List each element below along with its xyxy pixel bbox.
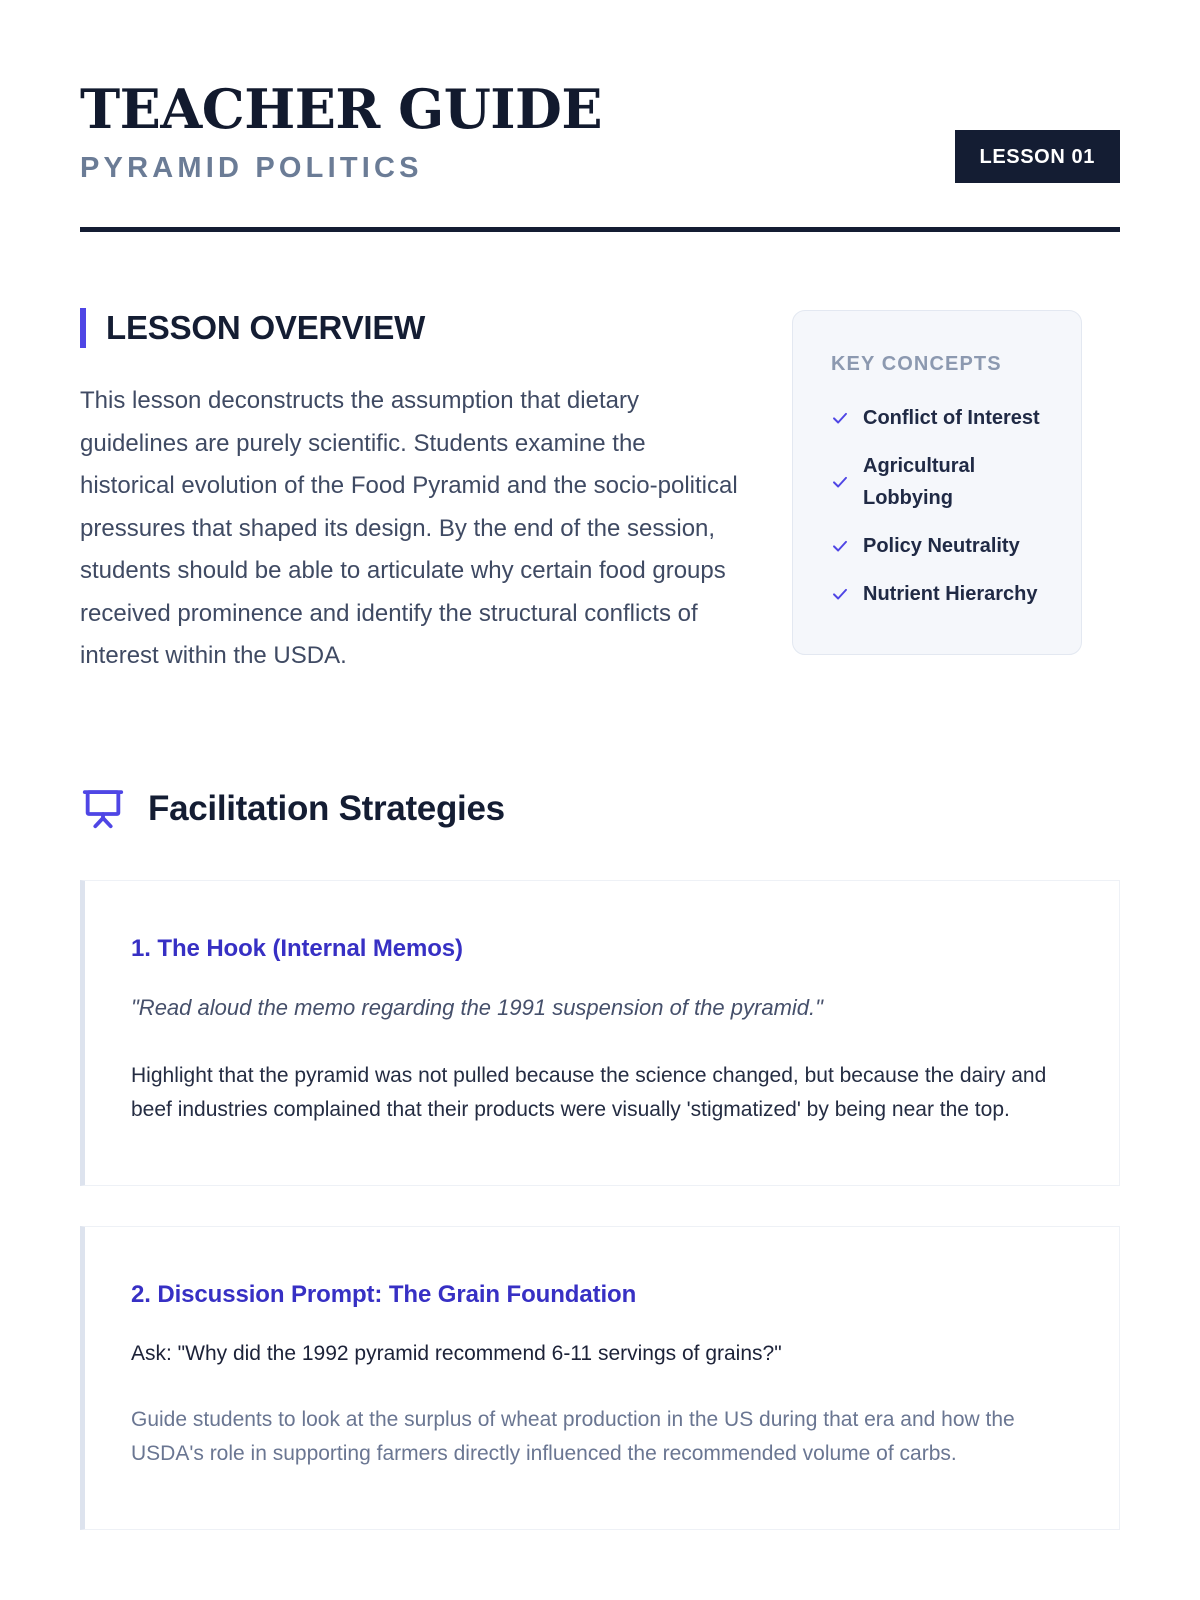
presentation-board-icon — [80, 786, 126, 832]
check-icon — [831, 473, 849, 491]
strategy-card: 2. Discussion Prompt: The Grain Foundati… — [80, 1226, 1120, 1530]
strategy-title: 1. The Hook (Internal Memos) — [131, 935, 1073, 963]
accent-bar-icon — [80, 308, 86, 348]
key-concept-label: Conflict of Interest — [863, 402, 1040, 434]
strategy-ask: Ask: "Why did the 1992 pyramid recommend… — [131, 1337, 1073, 1371]
facilitation-strategies-section: Facilitation Strategies 1. The Hook (Int… — [80, 786, 1120, 1530]
lesson-overview-title: LESSON OVERVIEW — [106, 309, 425, 347]
check-icon — [831, 409, 849, 427]
strategy-title: 2. Discussion Prompt: The Grain Foundati… — [131, 1281, 1073, 1309]
check-icon — [831, 585, 849, 603]
key-concept-label: Policy Neutrality — [863, 530, 1020, 562]
strategy-guide: Guide students to look at the surplus of… — [131, 1403, 1073, 1471]
teacher-guide-page: TEACHER GUIDE PYRAMID POLITICS LESSON 01… — [0, 0, 1200, 1600]
lesson-overview-body: This lesson deconstructs the assumption … — [80, 380, 740, 678]
lesson-overview-header: LESSON OVERVIEW — [80, 308, 740, 348]
key-concepts-title: KEY CONCEPTS — [831, 353, 1051, 376]
header-divider — [80, 227, 1120, 232]
check-icon — [831, 537, 849, 555]
key-concept-label: Agricultural Lobbying — [863, 450, 1051, 514]
facilitation-title: Facilitation Strategies — [148, 789, 505, 829]
strategy-note: Highlight that the pyramid was not pulle… — [131, 1059, 1073, 1127]
page-subtitle: PYRAMID POLITICS — [80, 152, 602, 185]
page-title: TEACHER GUIDE — [80, 82, 602, 136]
lesson-badge: LESSON 01 — [955, 130, 1120, 183]
overview-row: LESSON OVERVIEW This lesson deconstructs… — [80, 308, 1120, 678]
key-concept-item: Conflict of Interest — [831, 402, 1051, 434]
key-concepts-card: KEY CONCEPTS Conflict of Interest Agricu… — [792, 310, 1082, 655]
key-concept-item: Nutrient Hierarchy — [831, 578, 1051, 610]
lesson-overview-section: LESSON OVERVIEW This lesson deconstructs… — [80, 308, 740, 678]
key-concept-label: Nutrient Hierarchy — [863, 578, 1038, 610]
page-header: TEACHER GUIDE PYRAMID POLITICS LESSON 01 — [80, 78, 1120, 185]
key-concept-item: Agricultural Lobbying — [831, 450, 1051, 514]
strategy-quote: "Read aloud the memo regarding the 1991 … — [131, 991, 1073, 1025]
facilitation-header: Facilitation Strategies — [80, 786, 1120, 832]
header-title-group: TEACHER GUIDE PYRAMID POLITICS — [80, 78, 602, 185]
key-concept-item: Policy Neutrality — [831, 530, 1051, 562]
strategy-card: 1. The Hook (Internal Memos) "Read aloud… — [80, 880, 1120, 1186]
